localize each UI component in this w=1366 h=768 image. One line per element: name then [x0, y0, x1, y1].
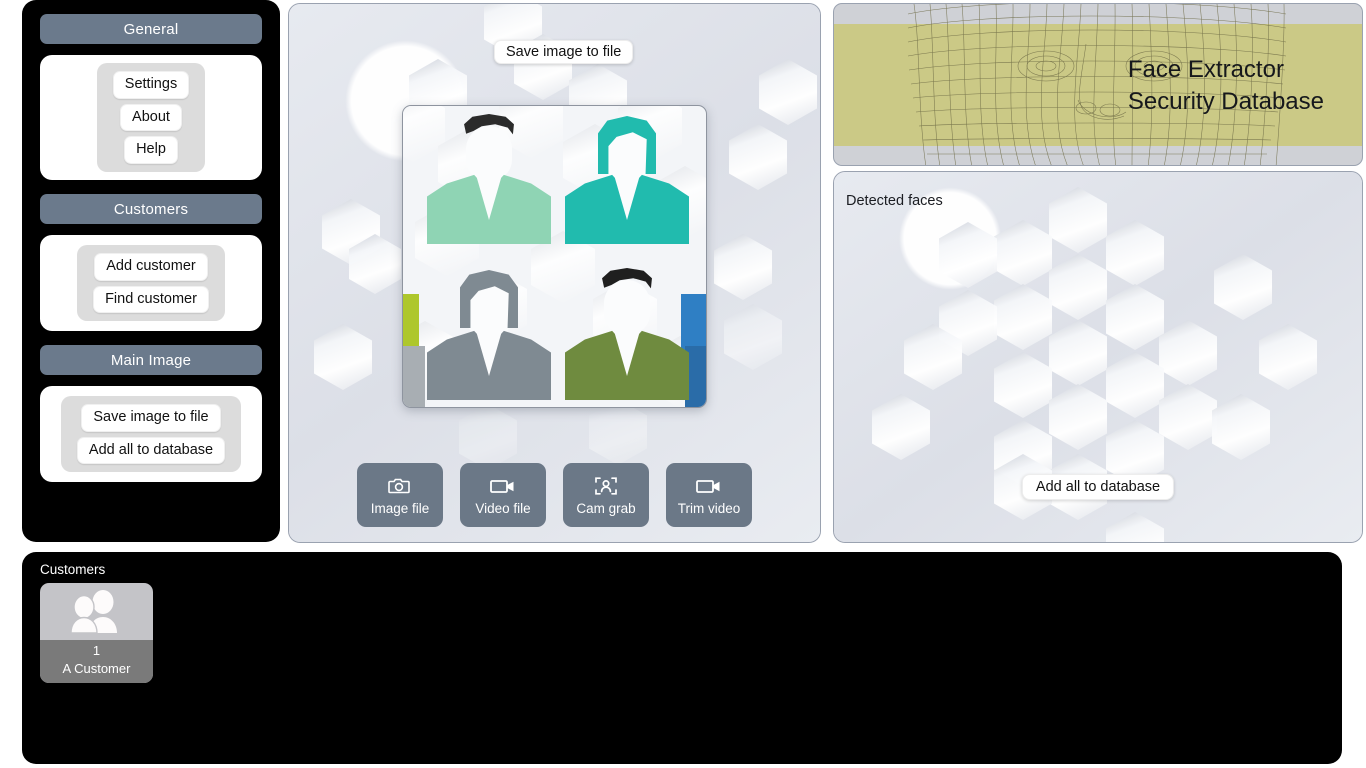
save-image-to-file-button[interactable]: Save image to file: [81, 404, 220, 432]
sidebar-spacer-1: [40, 180, 262, 194]
detected-faces-panel: Detected faces Add all to database: [833, 171, 1363, 543]
cam-grab-button[interactable]: Cam grab: [563, 463, 649, 527]
customer-card[interactable]: 1 A Customer: [40, 583, 153, 683]
button-stack-main-image: Save image to file Add all to database: [61, 396, 241, 472]
about-button[interactable]: About: [120, 104, 182, 132]
two-people-icon: [66, 589, 128, 633]
image-file-label: Image file: [371, 501, 430, 516]
sidebar-header-main-image: Main Image: [40, 345, 262, 375]
customer-meta: 1 A Customer: [40, 640, 153, 683]
sidebar-group-general: General Settings About Help: [40, 14, 262, 180]
sidebar-card-general: Settings About Help: [40, 55, 262, 180]
brand-title-line1: Face Extractor: [1128, 54, 1324, 86]
avatar-edge-left-gray: [402, 346, 425, 408]
video-camera-icon: [490, 475, 516, 497]
sidebar-header-customers: Customers: [40, 194, 262, 224]
add-all-to-database-button[interactable]: Add all to database: [77, 437, 225, 465]
app-root: General Settings About Help Customers Ad…: [0, 0, 1366, 768]
trim-video-button[interactable]: Trim video: [666, 463, 752, 527]
find-customer-button[interactable]: Find customer: [93, 286, 209, 314]
detected-faces-label: Detected faces: [846, 193, 943, 209]
brand-title: Face Extractor Security Database: [1128, 54, 1324, 118]
sidebar-spacer-2: [40, 331, 262, 345]
sidebar-group-main-image: Main Image Save image to file Add all to…: [40, 345, 262, 482]
customer-thumbnail: [40, 583, 153, 640]
video-camera-icon: [696, 475, 722, 497]
sidebar: General Settings About Help Customers Ad…: [22, 0, 280, 542]
customers-panel: Customers 1 A Customer: [22, 552, 1342, 764]
video-file-button[interactable]: Video file: [460, 463, 546, 527]
add-all-to-database-button[interactable]: Add all to database: [1022, 474, 1174, 500]
main-toolbar: Image file Video file: [289, 463, 820, 527]
customer-name: A Customer: [40, 660, 153, 678]
save-image-tooltip-button[interactable]: Save image to file: [494, 40, 633, 64]
settings-button[interactable]: Settings: [113, 71, 189, 99]
button-stack-general: Settings About Help: [97, 63, 205, 172]
customers-panel-title: Customers: [40, 562, 1324, 577]
main-image-panel: Save image to file Image file: [288, 3, 821, 543]
sidebar-card-main-image: Save image to file Add all to database: [40, 386, 262, 482]
brand-header-panel: Face Extractor Security Database: [833, 3, 1363, 166]
add-customer-button[interactable]: Add customer: [94, 253, 207, 281]
button-stack-customers: Add customer Find customer: [77, 245, 225, 321]
sidebar-group-customers: Customers Add customer Find customer: [40, 194, 262, 331]
trim-video-label: Trim video: [678, 501, 741, 516]
camera-icon: [388, 475, 412, 497]
image-file-button[interactable]: Image file: [357, 463, 443, 527]
customer-count: 1: [40, 642, 153, 660]
sidebar-header-general: General: [40, 14, 262, 44]
sidebar-card-customers: Add customer Find customer: [40, 235, 262, 331]
photo-inner: [403, 106, 706, 407]
help-button[interactable]: Help: [124, 136, 178, 164]
face-wireframe-background: Face Extractor Security Database: [834, 4, 1362, 165]
main-photo[interactable]: [402, 105, 707, 408]
face-detect-icon: [594, 475, 618, 497]
video-file-label: Video file: [475, 501, 530, 516]
cam-grab-label: Cam grab: [576, 501, 635, 516]
brand-title-line2: Security Database: [1128, 86, 1324, 118]
